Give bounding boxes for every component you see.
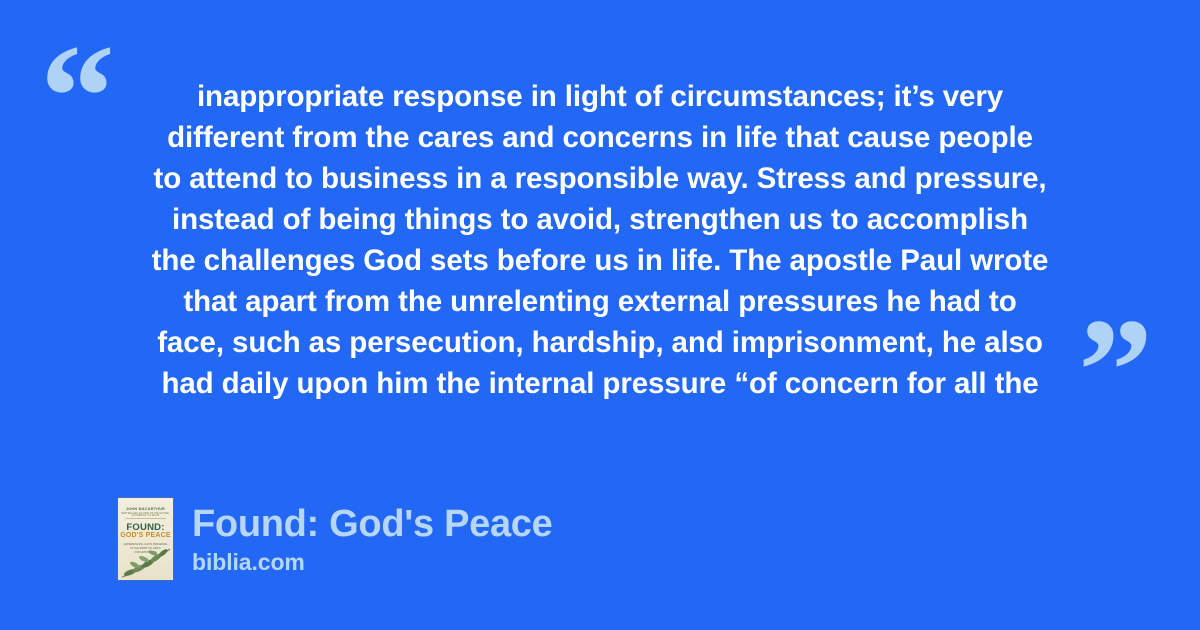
attribution-footer: JOHN MACARTHUR BESTSELLING AUTHOR OF THE… (118, 498, 552, 580)
book-title: Found: God's Peace (192, 502, 552, 546)
book-cover-title-line-2: GOD'S PEACE (118, 532, 173, 539)
opening-quote-icon: “ (40, 22, 113, 172)
quote-text-block: inappropriate response in light of circu… (104, 76, 1096, 404)
quote-line: had daily upon him the internal pressure… (104, 363, 1096, 404)
footer-text-group: Found: God's Peace biblia.com (192, 498, 552, 576)
olive-branch-icon (120, 544, 172, 578)
quote-line: instead of being things to avoid, streng… (104, 199, 1096, 240)
quote-line: that apart from the unrelenting external… (104, 281, 1096, 322)
quote-line: inappropriate response in light of circu… (104, 76, 1096, 117)
quote-line: different from the cares and concerns in… (104, 117, 1096, 158)
quote-card: “ inappropriate response in light of cir… (0, 0, 1200, 630)
book-cover-author: JOHN MACARTHUR (118, 507, 173, 511)
quote-line: to attend to business in a responsible w… (104, 158, 1096, 199)
quote-line: the challenges God sets before us in lif… (104, 240, 1096, 281)
site-name[interactable]: biblia.com (192, 548, 552, 576)
closing-quote-icon: ” (1078, 296, 1151, 446)
book-cover-divider (125, 518, 166, 519)
book-cover-thumbnail: JOHN MACARTHUR BESTSELLING AUTHOR OF THE… (118, 498, 173, 580)
book-cover-author-subtitle: BESTSELLING AUTHOR OF THE GOSPEL ACCORDI… (118, 513, 173, 517)
quote-line: face, such as persecution, hardship, and… (104, 322, 1096, 363)
